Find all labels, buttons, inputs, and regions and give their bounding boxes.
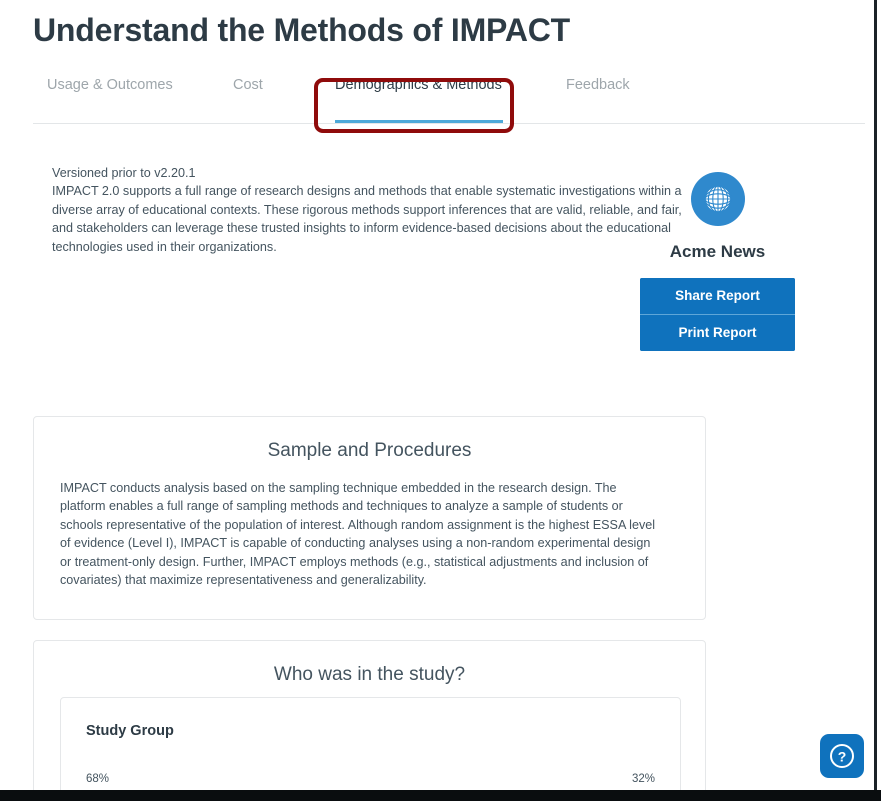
report-actions: Share Report Print Report [640, 278, 795, 351]
intro-text: Versioned prior to v2.20.1 IMPACT 2.0 su… [52, 164, 682, 257]
tab-cost[interactable]: Cost [233, 70, 263, 123]
tab-label: Feedback [566, 77, 630, 93]
print-report-button[interactable]: Print Report [640, 314, 795, 351]
svg-text:?: ? [838, 749, 847, 765]
tab-label: Demographics & Methods [335, 77, 502, 93]
tab-feedback[interactable]: Feedback [566, 70, 630, 123]
bar-value-labels: 68% 32% [86, 773, 655, 785]
version-note: Versioned prior to v2.20.1 [52, 164, 682, 183]
window-edge-bottom [0, 790, 881, 801]
sample-body-text: IMPACT conducts analysis based on the sa… [34, 462, 705, 590]
study-group-label: Study Group [86, 723, 174, 739]
window-edge-right [874, 0, 877, 790]
report-sidebar: Acme News Share Report Print Report [640, 172, 795, 351]
tab-demographics-methods[interactable]: Demographics & Methods [335, 70, 502, 123]
card-title: Sample and Procedures [34, 417, 705, 462]
sample-and-procedures-card: Sample and Procedures IMPACT conducts an… [33, 416, 706, 620]
help-button[interactable]: ? [820, 734, 864, 778]
share-report-button[interactable]: Share Report [640, 278, 795, 314]
study-group-panel: Study Group 68% 32% [60, 697, 681, 790]
tab-active-underline [335, 120, 503, 123]
intro-body: IMPACT 2.0 supports a full range of rese… [52, 184, 682, 254]
tab-label: Usage & Outcomes [47, 77, 173, 93]
bar-label-right: 32% [632, 773, 655, 785]
question-mark-icon: ? [828, 742, 856, 770]
tab-usage-outcomes[interactable]: Usage & Outcomes [47, 70, 173, 123]
globe-icon [691, 172, 745, 226]
bar-label-left: 68% [86, 773, 109, 785]
tab-label: Cost [233, 77, 263, 93]
page-title: Understand the Methods of IMPACT [0, 0, 873, 52]
organization-name: Acme News [640, 242, 795, 262]
who-was-in-the-study-card: Who was in the study? Study Group 68% 32… [33, 640, 706, 790]
report-page: Understand the Methods of IMPACT Usage &… [0, 0, 873, 790]
card-title: Who was in the study? [34, 641, 705, 686]
tab-bar: Usage & Outcomes Cost Demographics & Met… [33, 70, 865, 124]
